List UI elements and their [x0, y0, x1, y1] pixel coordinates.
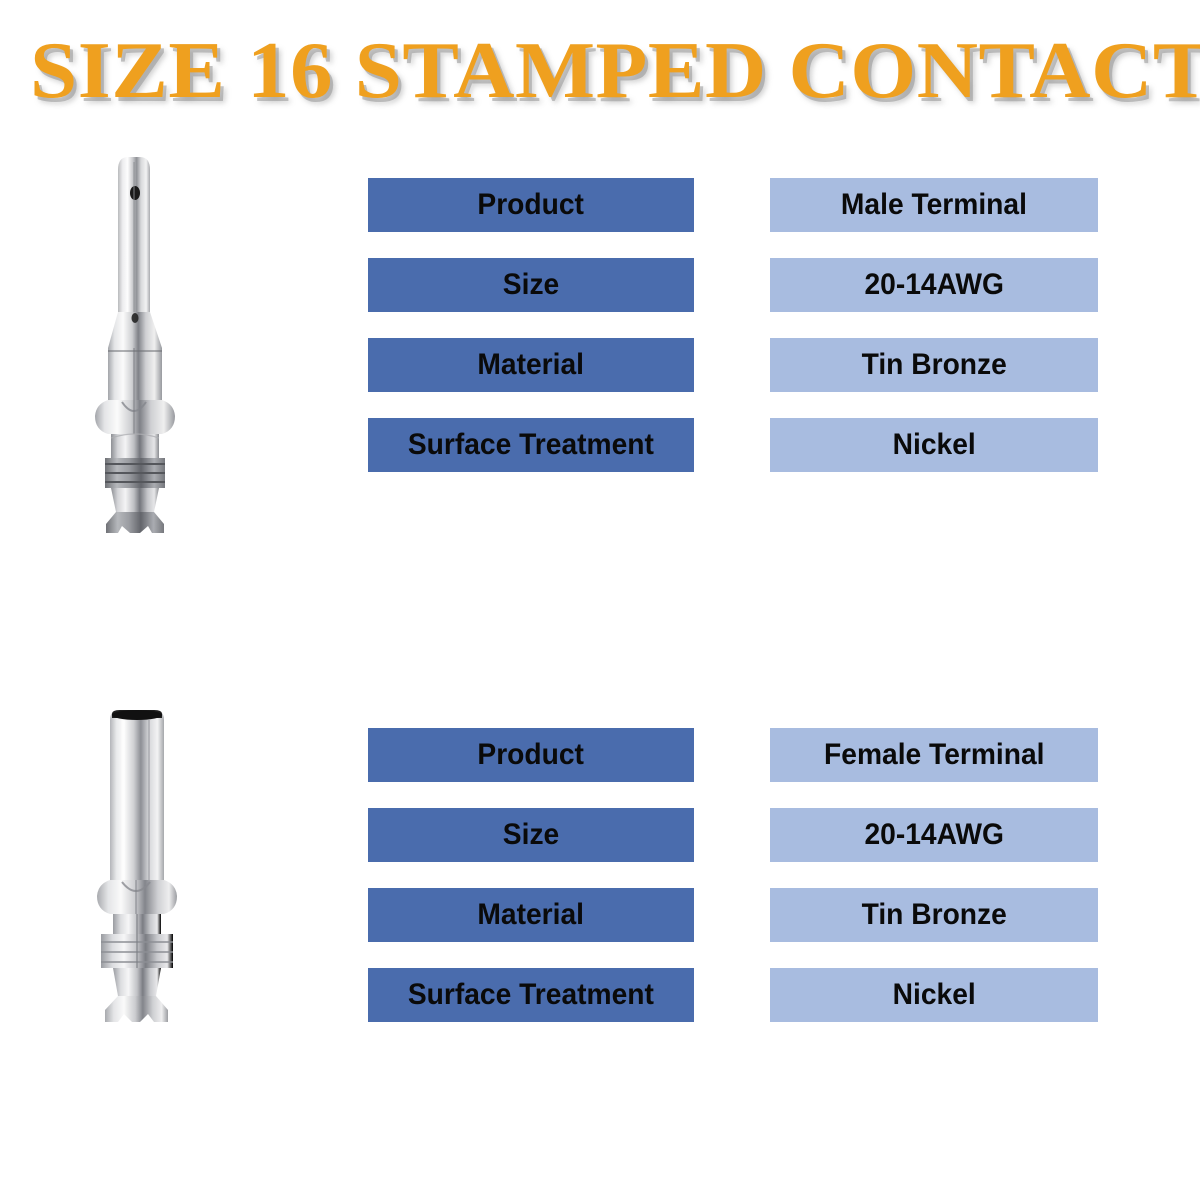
spec-value-surface-treatment: Nickel	[770, 968, 1098, 1022]
spec-value-size: 20-14AWG	[770, 808, 1098, 862]
table-row: Size 20-14AWG	[368, 808, 1098, 862]
spec-value-size: 20-14AWG	[770, 258, 1098, 312]
spec-label-material: Material	[368, 888, 694, 942]
spec-value-product: Male Terminal	[770, 178, 1098, 232]
spec-label-product: Product	[368, 178, 694, 232]
spec-label-size: Size	[368, 258, 694, 312]
spec-value-product: Female Terminal	[770, 728, 1098, 782]
spec-label-surface-treatment: Surface Treatment	[368, 418, 694, 472]
table-row: Surface Treatment Nickel	[368, 968, 1098, 1022]
spec-value-surface-treatment: Nickel	[770, 418, 1098, 472]
table-row: Size 20-14AWG	[368, 258, 1098, 312]
spec-value-material: Tin Bronze	[770, 888, 1098, 942]
spec-label-surface-treatment: Surface Treatment	[368, 968, 694, 1022]
product-section-male: Product Male Terminal Size 20-14AWG Mate…	[0, 140, 1200, 540]
spec-table-female: Product Female Terminal Size 20-14AWG Ma…	[368, 728, 1098, 1022]
table-row: Material Tin Bronze	[368, 888, 1098, 942]
table-row: Surface Treatment Nickel	[368, 418, 1098, 472]
spec-label-product: Product	[368, 728, 694, 782]
spec-table-male: Product Male Terminal Size 20-14AWG Mate…	[368, 178, 1098, 472]
page-title: SIZE 16 STAMPED CONTACTS	[30, 32, 1200, 110]
female-terminal-contact-photo	[78, 704, 198, 1049]
spec-value-material: Tin Bronze	[770, 338, 1098, 392]
table-row: Product Female Terminal	[368, 728, 1098, 782]
product-section-female: Product Female Terminal Size 20-14AWG Ma…	[0, 690, 1200, 1050]
male-terminal-contact-photo	[78, 152, 198, 537]
table-row: Material Tin Bronze	[368, 338, 1098, 392]
table-row: Product Male Terminal	[368, 178, 1098, 232]
spec-label-size: Size	[368, 808, 694, 862]
spec-label-material: Material	[368, 338, 694, 392]
